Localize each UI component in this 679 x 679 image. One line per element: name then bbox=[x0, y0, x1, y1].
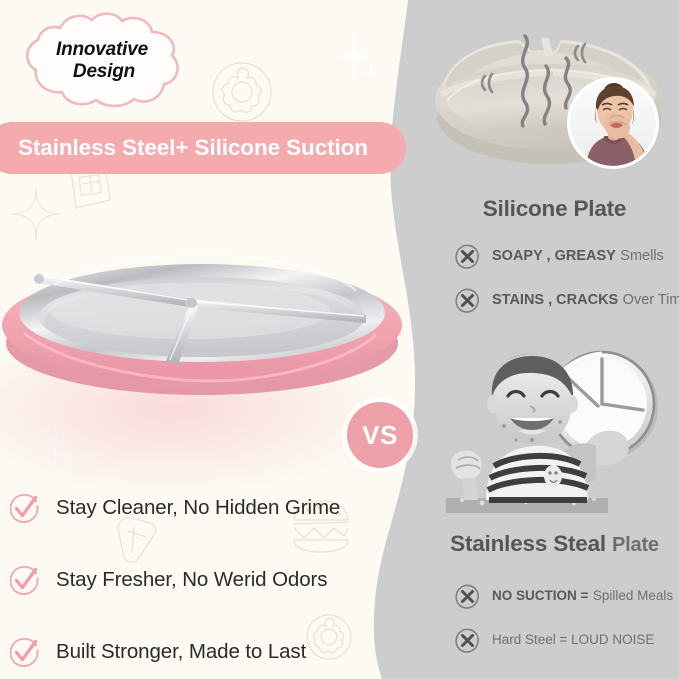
x-circle-icon bbox=[454, 287, 481, 314]
steel-drawback-list: NO SUCTION = Spilled Meals Hard Steel = … bbox=[430, 578, 679, 658]
list-item: SOAPY , GREASY Smells bbox=[430, 238, 679, 274]
sparkle-icon bbox=[338, 28, 384, 97]
drawback-text: STAINS , CRACKS Over Time bbox=[492, 292, 679, 308]
drawback-strong: NO SUCTION = bbox=[492, 588, 588, 603]
drawback-strong: STAINS , CRACKS bbox=[492, 292, 618, 308]
cloud-badge-text: Innovative Design bbox=[16, 12, 188, 110]
product-comparison-infographic: Innovative Design Stainless Steel+ Silic… bbox=[0, 0, 679, 679]
drawback-text: Hard Steel = LOUD NOISE bbox=[492, 632, 654, 648]
list-item: NO SUCTION = Spilled Meals bbox=[430, 578, 679, 614]
steel-heading-strong: Stainless Steal bbox=[450, 531, 606, 556]
cloud-line-2: Design bbox=[73, 61, 135, 83]
drawback-strong: SOAPY , GREASY bbox=[492, 248, 616, 264]
steel-plate-heading: Stainless Steal Plate bbox=[430, 531, 679, 557]
silicone-plate-heading: Silicone Plate bbox=[430, 196, 679, 222]
check-circle-icon bbox=[8, 492, 41, 525]
innovative-design-cloud-badge: Innovative Design bbox=[16, 12, 188, 110]
toddler-holding-plate-photo bbox=[438, 348, 672, 524]
list-item: Stay Fresher, No Werid Odors bbox=[8, 544, 388, 616]
vs-badge: VS bbox=[347, 402, 413, 468]
drawback-regular: Smells bbox=[620, 248, 664, 264]
woman-pinching-nose-photo bbox=[570, 80, 656, 166]
drawback-text: NO SUCTION = Spilled Meals bbox=[492, 588, 673, 604]
list-item: STAINS , CRACKS Over Time bbox=[430, 282, 679, 318]
sparkle-icon bbox=[38, 415, 82, 480]
benefit-label: Stay Fresher, No Werid Odors bbox=[56, 568, 327, 592]
list-item: Hard Steel = LOUD NOISE bbox=[430, 622, 679, 658]
drawback-text: SOAPY , GREASY Smells bbox=[492, 248, 664, 264]
product-plate-image bbox=[0, 193, 424, 408]
list-item: Built Stronger, Made to Last bbox=[8, 616, 388, 679]
vs-badge-label: VS bbox=[362, 422, 398, 448]
benefit-label: Built Stronger, Made to Last bbox=[56, 640, 306, 664]
benefit-list: Stay Cleaner, No Hidden Grime Stay Fresh… bbox=[8, 472, 388, 679]
donut-outline-icon bbox=[205, 55, 279, 129]
drawback-regular: Over Time bbox=[623, 292, 679, 308]
steel-heading-light: Plate bbox=[612, 534, 659, 556]
x-circle-icon bbox=[454, 627, 481, 654]
list-item: Stay Cleaner, No Hidden Grime bbox=[8, 472, 388, 544]
headline-banner-label: Stainless Steel+ Silicone Suction bbox=[18, 135, 368, 161]
right-comparison-column: Silicone Plate SOAPY , GREASY Smells bbox=[430, 0, 679, 679]
x-circle-icon bbox=[454, 583, 481, 610]
check-circle-icon bbox=[8, 636, 41, 669]
x-circle-icon bbox=[454, 243, 481, 270]
silicone-drawback-list: SOAPY , GREASY Smells STAINS , CRACKS Ov… bbox=[430, 238, 679, 318]
check-circle-icon bbox=[8, 564, 41, 597]
headline-banner: Stainless Steel+ Silicone Suction bbox=[0, 122, 406, 174]
benefit-label: Stay Cleaner, No Hidden Grime bbox=[56, 496, 340, 520]
cloud-line-1: Innovative bbox=[56, 39, 148, 61]
drawback-regular: Spilled Meals bbox=[593, 588, 673, 603]
drawback-regular: Hard Steel = LOUD NOISE bbox=[492, 632, 654, 647]
